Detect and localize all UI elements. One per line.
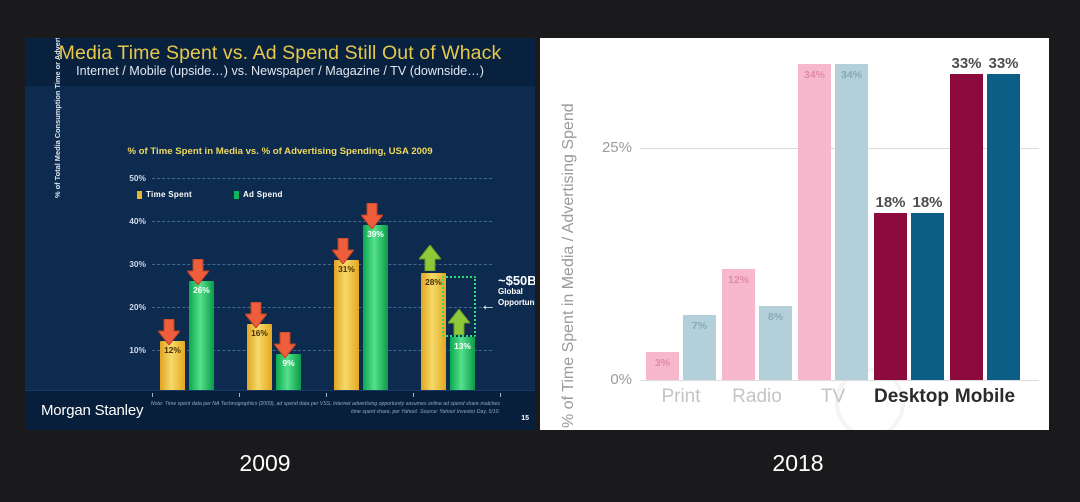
- x-axis-tick: [152, 393, 153, 397]
- x-axis-category-label: Desktop: [874, 386, 944, 408]
- arrow-down-icon: [245, 302, 267, 328]
- bar: 3%: [646, 352, 679, 380]
- bar: 13%: [450, 337, 475, 393]
- bar: 31%: [334, 260, 359, 393]
- bar-group: 18%18%Desktop: [874, 42, 944, 380]
- y-axis-tick-label: 40%: [100, 216, 146, 226]
- callout-arrow-icon: ←: [480, 301, 496, 311]
- bar-group: 33%33%Mobile: [950, 42, 1020, 380]
- bar-group: 3%7%Print: [646, 42, 716, 380]
- arrow-down-icon: [158, 319, 180, 345]
- bar-value-label: 18%: [911, 194, 944, 211]
- bar-value-label: 7%: [683, 320, 716, 332]
- bar: 34%: [835, 64, 868, 380]
- bar: 12%: [160, 341, 185, 393]
- caption-right-year: 2018: [718, 450, 878, 477]
- y-axis-tick-label: 10%: [100, 345, 146, 355]
- bar: 18%: [874, 213, 907, 380]
- bar-value-label: 26%: [189, 285, 214, 295]
- y-axis-tick-label: 30%: [100, 259, 146, 269]
- opportunity-callout-text: ~$50B Global Opportunity: [498, 275, 535, 308]
- opportunity-line2: Opportunity: [498, 297, 535, 308]
- gridline: [640, 380, 1039, 381]
- bar: 8%: [759, 306, 792, 380]
- bar-group-container: 3%7%Print12%8%Radio34%34%TV18%18%Desktop…: [640, 42, 1039, 380]
- x-axis-category-label: Radio: [722, 386, 792, 408]
- bar-value-label: 16%: [247, 328, 272, 338]
- bar-value-label: 34%: [798, 69, 831, 81]
- bar-value-label: 33%: [950, 55, 983, 72]
- x-axis-category-label: Print: [646, 386, 716, 408]
- x-axis-tick: [239, 393, 240, 397]
- bar-group: 12%26%Print: [156, 188, 222, 393]
- screenshot-root: Media Time Spent vs. Ad Spend Still Out …: [0, 0, 1080, 502]
- y-axis-tick-label: 20%: [100, 302, 146, 312]
- bar-value-label: 34%: [835, 69, 868, 81]
- y-axis-tick-label: 50%: [100, 173, 146, 183]
- bar-group: 16%9%Radio: [243, 188, 309, 393]
- right-chart-panel: % of Time Spent in Media / Advertising S…: [540, 38, 1049, 430]
- bar-value-label: 8%: [759, 311, 792, 323]
- bar-value-label: 12%: [722, 274, 755, 286]
- bar-value-label: 3%: [646, 357, 679, 369]
- bar-group: 34%34%TV: [798, 42, 868, 380]
- x-axis-tick: [413, 393, 414, 397]
- slide-footer: Morgan Stanley Note: Time spent data per…: [25, 390, 535, 430]
- bar: 33%: [950, 74, 983, 380]
- x-axis-category-label: TV: [798, 386, 868, 408]
- bar: 26%: [189, 281, 214, 393]
- bar: 34%: [798, 64, 831, 380]
- arrow-down-icon: [274, 332, 296, 358]
- x-axis-tick: [500, 393, 501, 397]
- gridline: [152, 178, 492, 179]
- arrow-down-icon: [187, 259, 209, 285]
- bar-value-label: 33%: [987, 55, 1020, 72]
- bar: 39%: [363, 225, 388, 393]
- caption-left-year: 2009: [185, 450, 345, 477]
- y-axis-tick-label: 25%: [580, 139, 632, 156]
- bar: 33%: [987, 74, 1020, 380]
- x-axis-category-label: Mobile: [950, 386, 1020, 408]
- bar: 12%: [722, 269, 755, 380]
- source-note: Note: Time spent data per NA Technograph…: [145, 401, 500, 416]
- bar-value-label: 39%: [363, 229, 388, 239]
- bar-value-label: 31%: [334, 264, 359, 274]
- left-slide-panel: Media Time Spent vs. Ad Spend Still Out …: [25, 38, 535, 430]
- bar: 16%: [247, 324, 272, 393]
- arrow-up-icon: [419, 245, 441, 271]
- bar-group: 12%8%Radio: [722, 42, 792, 380]
- y-axis-tick-label: 0%: [580, 371, 632, 388]
- bar: 7%: [683, 315, 716, 380]
- brand-logo-text: Morgan Stanley: [41, 402, 143, 419]
- slide-page-number: 15: [521, 415, 529, 422]
- x-axis-tick: [326, 393, 327, 397]
- arrow-down-icon: [332, 238, 354, 264]
- arrow-down-icon: [361, 203, 383, 229]
- y-axis-label: % of Total Media Consumption Time or Adv…: [53, 38, 62, 198]
- opportunity-amount: ~$50B: [498, 275, 535, 286]
- bar: 9%: [276, 354, 301, 393]
- arrow-up-icon: [448, 309, 470, 335]
- bar: 18%: [911, 213, 944, 380]
- bar-value-label: 9%: [276, 358, 301, 368]
- bar-value-label: 12%: [160, 345, 185, 355]
- bar-value-label: 13%: [450, 341, 475, 351]
- bar-value-label: 18%: [874, 194, 907, 211]
